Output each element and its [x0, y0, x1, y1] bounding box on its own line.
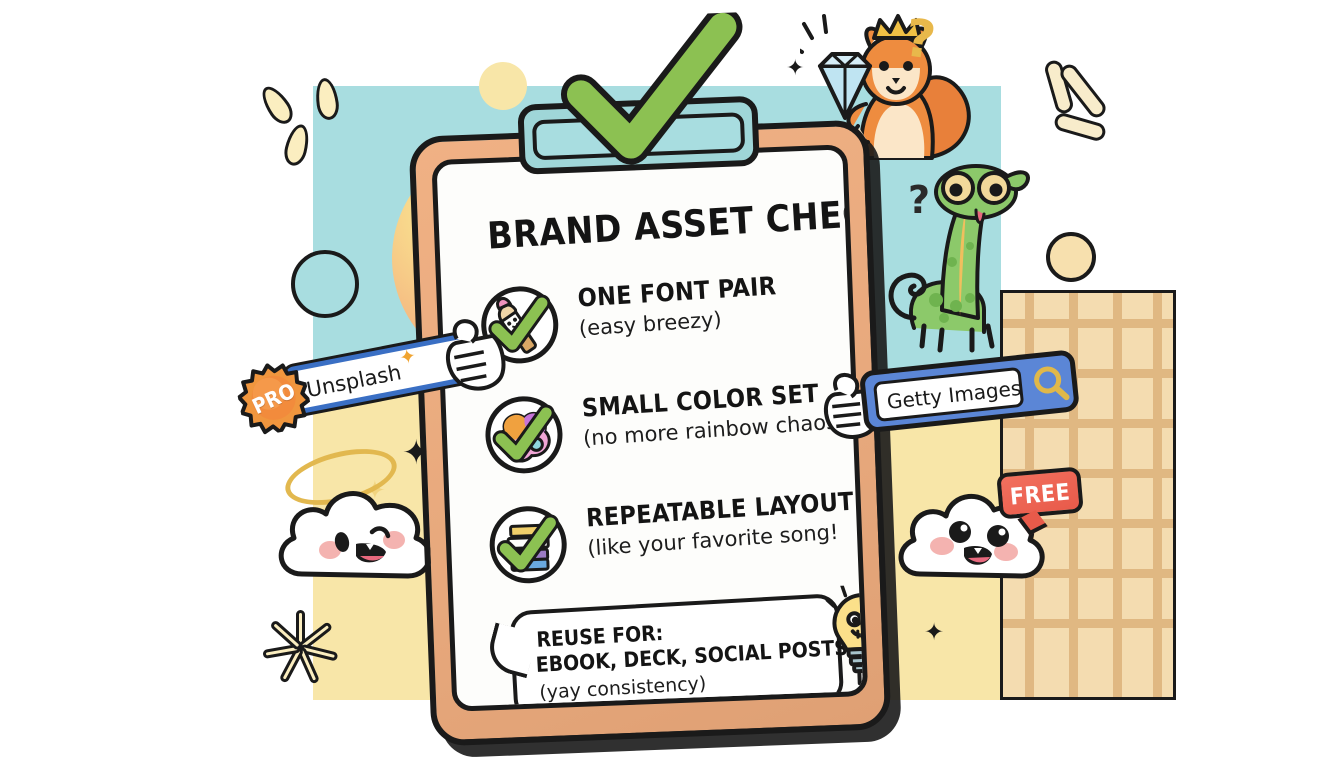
sparkle-icon: ✦ [924, 620, 944, 644]
reuse-speech-bubble: REUSE FOR: EBOOK, DECK, SOCIAL POSTS! (y… [509, 593, 845, 712]
starburst-icon [252, 600, 348, 696]
teardrop-ray-icon [256, 81, 298, 128]
lightbulb-icon [825, 584, 868, 687]
checklist-item-text: SMALL COLOR SET (no more rainbow chaos) [581, 384, 839, 451]
pro-badge[interactable]: PRO [233, 357, 315, 439]
getty-search-bar[interactable]: Getty Images [859, 349, 1080, 433]
question-mark-icon: ? [908, 178, 930, 222]
clipboard: BRAND ASSET CHECKLIST [408, 119, 891, 746]
checklist-item[interactable]: ONE FONT PAIR (easy breezy) [477, 268, 836, 378]
free-badge-label: FREE [1001, 479, 1079, 512]
checklist-item-text: ONE FONT PAIR (easy breezy) [577, 274, 835, 341]
checklist-item[interactable]: SMALL COLOR SET (no more rainbow chaos) [481, 378, 840, 488]
unsplash-label: Unsplash [305, 360, 404, 402]
layout-stack-check-icon [486, 502, 571, 587]
teal-outline-circle [291, 250, 359, 318]
teardrop-ray-icon [281, 122, 313, 168]
page-title: BRAND ASSET CHECKLIST [486, 195, 826, 258]
checklist-item-text: REPEATABLE LAYOUT RHYTM (like your favor… [586, 494, 844, 561]
illustration-canvas: ✦ ✦ ✦ ✦ [0, 0, 1344, 768]
clipboard-paper: BRAND ASSET CHECKLIST [431, 144, 868, 712]
getty-label: Getty Images [886, 376, 1023, 414]
search-input[interactable]: Getty Images [873, 367, 1024, 422]
big-green-checkmark [556, 12, 752, 169]
bubble-line-3: (yay consistency) [539, 673, 707, 704]
chameleon-character [880, 150, 1060, 360]
speech-bubble-tail [484, 623, 538, 679]
free-badge[interactable]: FREE [996, 466, 1084, 519]
magnifier-icon[interactable] [1030, 363, 1070, 405]
yellow-dot [479, 62, 527, 110]
checklist-item[interactable]: REPEATABLE LAYOUT RHYTM (like your favor… [486, 488, 845, 598]
